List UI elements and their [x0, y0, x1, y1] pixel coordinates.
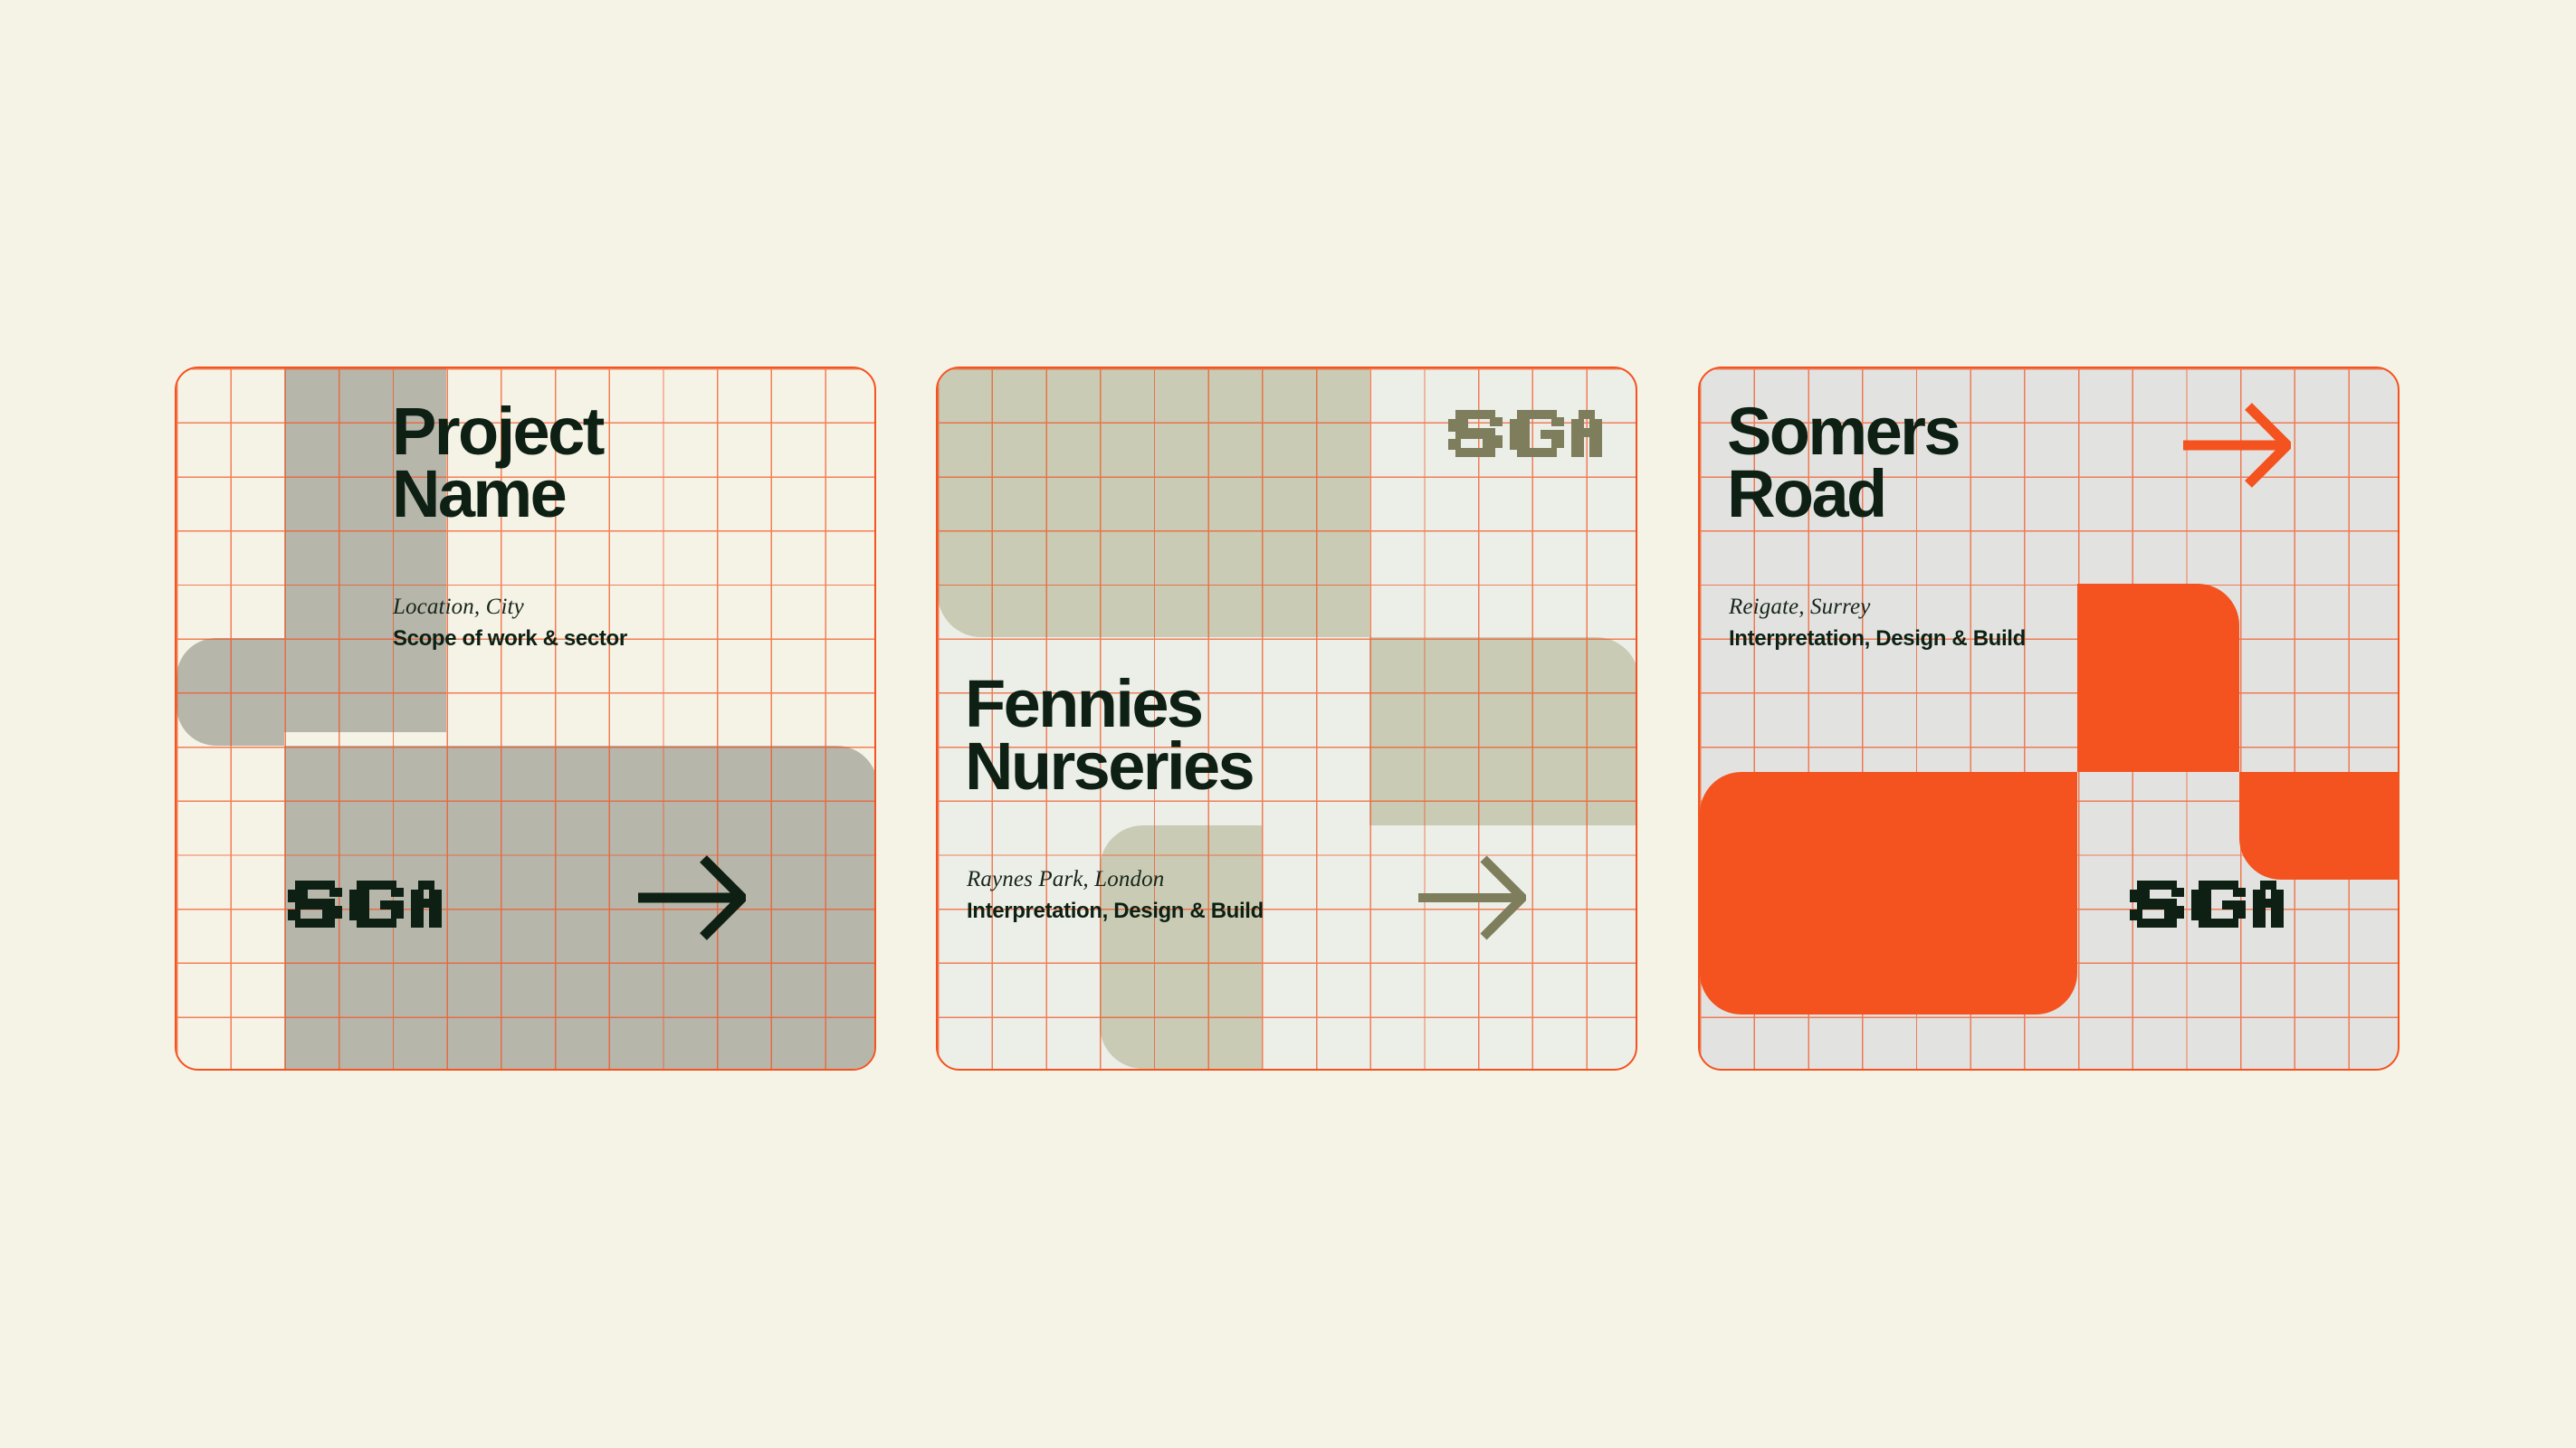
somers-road-card[interactable]: Somers Road Reigate, Surrey Interpretati… — [1698, 367, 2399, 1071]
scope-label: Scope of work & sector — [393, 626, 627, 652]
card-2-content: Fennies Nurseries Raynes Park, London In… — [938, 368, 1636, 1069]
sga-logo[interactable] — [2130, 881, 2284, 928]
fennies-nurseries-card[interactable]: Fennies Nurseries Raynes Park, London In… — [936, 367, 1637, 1071]
arrow-right-icon[interactable] — [2183, 401, 2291, 490]
location-label: Location, City — [393, 595, 524, 620]
poster-canvas: Project Name Location, City Scope of wor… — [0, 0, 2576, 1448]
card-3-content: Somers Road Reigate, Surrey Interpretati… — [1700, 368, 2398, 1069]
page-title: Somers Road — [1727, 401, 1959, 526]
card-1-content: Project Name Location, City Scope of wor… — [177, 368, 874, 1069]
page-title: Fennies Nurseries — [965, 673, 1253, 798]
arrow-right-icon[interactable] — [1418, 853, 1526, 942]
location-label: Raynes Park, London — [967, 867, 1164, 892]
location-label: Reigate, Surrey — [1729, 595, 1870, 620]
page-title: Project Name — [392, 401, 603, 526]
sga-logo[interactable] — [288, 881, 442, 928]
scope-label: Interpretation, Design & Build — [1729, 626, 2026, 652]
sga-logo[interactable] — [1448, 410, 1602, 457]
project-template-card[interactable]: Project Name Location, City Scope of wor… — [175, 367, 876, 1071]
scope-label: Interpretation, Design & Build — [967, 899, 1264, 924]
arrow-right-icon[interactable] — [638, 853, 746, 942]
